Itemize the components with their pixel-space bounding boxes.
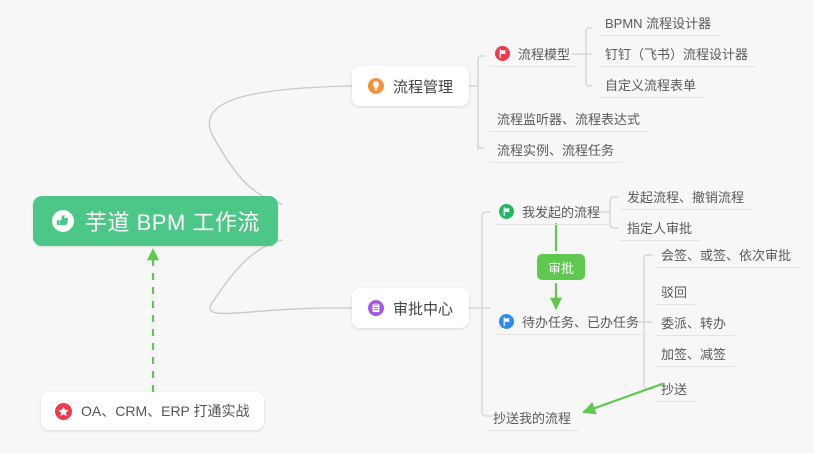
leaf-delegate-transfer[interactable]: 委派、转办: [654, 309, 734, 336]
branch-label-process-management: 流程管理: [393, 76, 453, 97]
branch-label-approval-center: 审批中心: [393, 298, 453, 319]
branch-node-process-management[interactable]: 流程管理: [352, 66, 469, 106]
flag-icon: [495, 46, 510, 61]
edge-pm-spine: [472, 62, 478, 150]
flow-tag-label: 审批: [548, 258, 574, 277]
leaf-custom-process-form[interactable]: 自定义流程表单: [598, 71, 704, 98]
leaf-carbon-copy[interactable]: 抄送: [654, 375, 695, 402]
subtopic-process-listener-expression[interactable]: 流程监听器、流程表达式: [490, 105, 648, 132]
subtopic-label-my-initiated-process: 我发起的流程: [522, 202, 600, 221]
floating-node-label: OA、CRM、ERP 打通实战: [81, 401, 250, 421]
arrow-cc-to-my-cc-process: [584, 384, 662, 412]
leaf-dingtalk-feishu-designer[interactable]: 钉钉（飞书）流程设计器: [598, 40, 756, 67]
flag-icon: [499, 204, 514, 219]
floating-node-integration-practice[interactable]: OA、CRM、ERP 打通实战: [41, 392, 264, 430]
flow-tag-approval[interactable]: 审批: [537, 254, 585, 280]
subtopic-label-process-model: 流程模型: [518, 44, 570, 63]
edge-root-to-process-management: [209, 86, 352, 204]
lightbulb-icon: [368, 78, 384, 94]
leaf-reject[interactable]: 驳回: [654, 278, 695, 305]
mindmap-canvas[interactable]: 芋道 BPM 工作流 流程管理 流程模型 BPMN 流程设计器 钉钉（飞书）流程: [0, 0, 814, 453]
leaf-start-cancel-process[interactable]: 发起流程、撤销流程: [620, 183, 752, 210]
thumbs-up-icon: [51, 209, 75, 233]
edge-root-to-approval-center: [210, 240, 352, 313]
branch-node-approval-center[interactable]: 审批中心: [352, 288, 469, 328]
leaf-add-remove-sign[interactable]: 加签、减签: [654, 340, 734, 367]
flag-icon: [499, 314, 514, 329]
edge-pm-spine-curve: [478, 56, 484, 148]
leaf-countersign-orsign-sequential[interactable]: 会签、或签、依次审批: [654, 241, 799, 268]
star-icon: [55, 403, 72, 420]
edge-model-spine: [586, 28, 592, 86]
subtopic-todo-done-task[interactable]: 待办任务、已办任务: [494, 308, 647, 335]
subtopic-label-todo-done-task: 待办任务、已办任务: [522, 312, 639, 331]
subtopic-cc-to-me-process[interactable]: 抄送我的流程: [486, 404, 579, 431]
leaf-bpmn-designer[interactable]: BPMN 流程设计器: [598, 9, 719, 36]
subtopic-my-initiated-process[interactable]: 我发起的流程: [494, 198, 608, 225]
clipboard-icon: [368, 300, 384, 316]
subtopic-process-model[interactable]: 流程模型: [490, 40, 578, 67]
edge-ac-spine: [482, 212, 492, 416]
leaf-assignee-approval[interactable]: 指定人审批: [620, 214, 700, 241]
root-node[interactable]: 芋道 BPM 工作流: [33, 196, 278, 246]
subtopic-process-instance-task[interactable]: 流程实例、流程任务: [490, 136, 622, 163]
root-label: 芋道 BPM 工作流: [85, 205, 260, 237]
edge-mine-spine: [610, 197, 618, 228]
